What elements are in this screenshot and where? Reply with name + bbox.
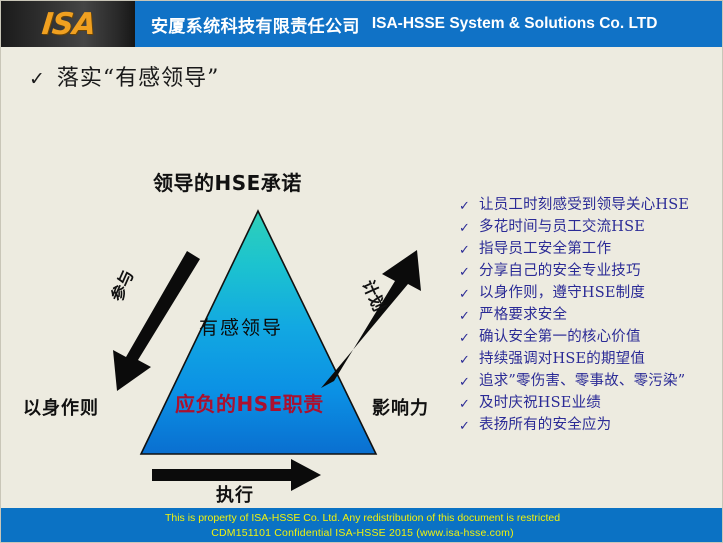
check-icon: ✓	[29, 68, 45, 91]
list-item: ✓分享自己的安全专业技巧	[453, 261, 721, 282]
diagram-label-bottom: 执行	[216, 481, 254, 507]
slide-title-text: 落实“有感领导”	[57, 60, 220, 92]
slide-header: ISA 安厦系统科技有限责任公司 ISA-HSSE System & Solut…	[1, 1, 723, 47]
slide-canvas: ISA 安厦系统科技有限责任公司 ISA-HSSE System & Solut…	[0, 0, 723, 543]
check-icon: ✓	[453, 371, 479, 392]
list-item: ✓确认安全第一的核心价值	[453, 327, 721, 348]
check-icon: ✓	[453, 283, 479, 304]
header-title-bar: 安厦系统科技有限责任公司 ISA-HSSE System & Solutions…	[135, 1, 723, 47]
list-item: ✓指导员工安全第工作	[453, 239, 721, 260]
company-name-cn: 安厦系统科技有限责任公司	[151, 12, 360, 37]
check-icon: ✓	[453, 393, 479, 414]
check-icon: ✓	[453, 415, 479, 436]
list-item: ✓及时庆祝HSE业绩	[453, 393, 721, 414]
slide-footer: This is property of ISA-HSSE Co. Ltd. An…	[1, 508, 723, 542]
arrow-right-planning	[321, 250, 421, 388]
list-item: ✓让员工时刻感受到领导关心HSE	[453, 195, 721, 216]
footer-line-2: CDM151101 Confidential ISA-HSSE 2015 (ww…	[1, 526, 723, 541]
list-item: ✓追求”零伤害、零事故、零污染”	[453, 371, 721, 392]
isa-logo-icon: ISA	[40, 7, 97, 42]
leadership-triangle-diagram: 领导的HSE承诺	[1, 151, 451, 511]
list-item: ✓严格要求安全	[453, 305, 721, 326]
footer-line-1: This is property of ISA-HSSE Co. Ltd. An…	[1, 511, 723, 526]
check-icon: ✓	[453, 349, 479, 370]
list-item-label: 严格要求安全	[479, 305, 721, 326]
check-icon: ✓	[453, 327, 479, 348]
check-icon: ✓	[453, 305, 479, 326]
list-item-label: 让员工时刻感受到领导关心HSE	[479, 195, 721, 216]
diagram-label-left: 以身作则	[23, 394, 99, 420]
list-item-label: 确认安全第一的核心价值	[479, 327, 721, 348]
list-item: ✓持续强调对HSE的期望值	[453, 349, 721, 370]
check-icon: ✓	[453, 217, 479, 238]
logo-zone: ISA	[1, 1, 135, 47]
bullet-list: ✓让员工时刻感受到领导关心HSE✓多花时间与员工交流HSE✓指导员工安全第工作✓…	[453, 195, 721, 437]
triangle-inner-label-top: 有感领导	[199, 313, 283, 340]
list-item: ✓表扬所有的安全应为	[453, 415, 721, 436]
slide-title: ✓ 落实“有感领导”	[29, 60, 219, 92]
check-icon: ✓	[453, 261, 479, 282]
list-item-label: 追求”零伤害、零事故、零污染”	[479, 371, 721, 392]
triangle-inner-label-bottom: 应负的HSE职责	[175, 388, 324, 417]
list-item-label: 表扬所有的安全应为	[479, 415, 721, 436]
list-item-label: 及时庆祝HSE业绩	[479, 393, 721, 414]
check-icon: ✓	[453, 195, 479, 216]
list-item: ✓以身作则，遵守HSE制度	[453, 283, 721, 304]
company-name-en: ISA-HSSE System & Solutions Co. LTD	[372, 15, 658, 33]
diagram-label-right: 影响力	[372, 394, 429, 420]
list-item: ✓多花时间与员工交流HSE	[453, 217, 721, 238]
list-item-label: 以身作则，遵守HSE制度	[479, 283, 721, 304]
list-item-label: 多花时间与员工交流HSE	[479, 217, 721, 238]
list-item-label: 持续强调对HSE的期望值	[479, 349, 721, 370]
list-item-label: 指导员工安全第工作	[479, 239, 721, 260]
list-item-label: 分享自己的安全专业技巧	[479, 261, 721, 282]
check-icon: ✓	[453, 239, 479, 260]
